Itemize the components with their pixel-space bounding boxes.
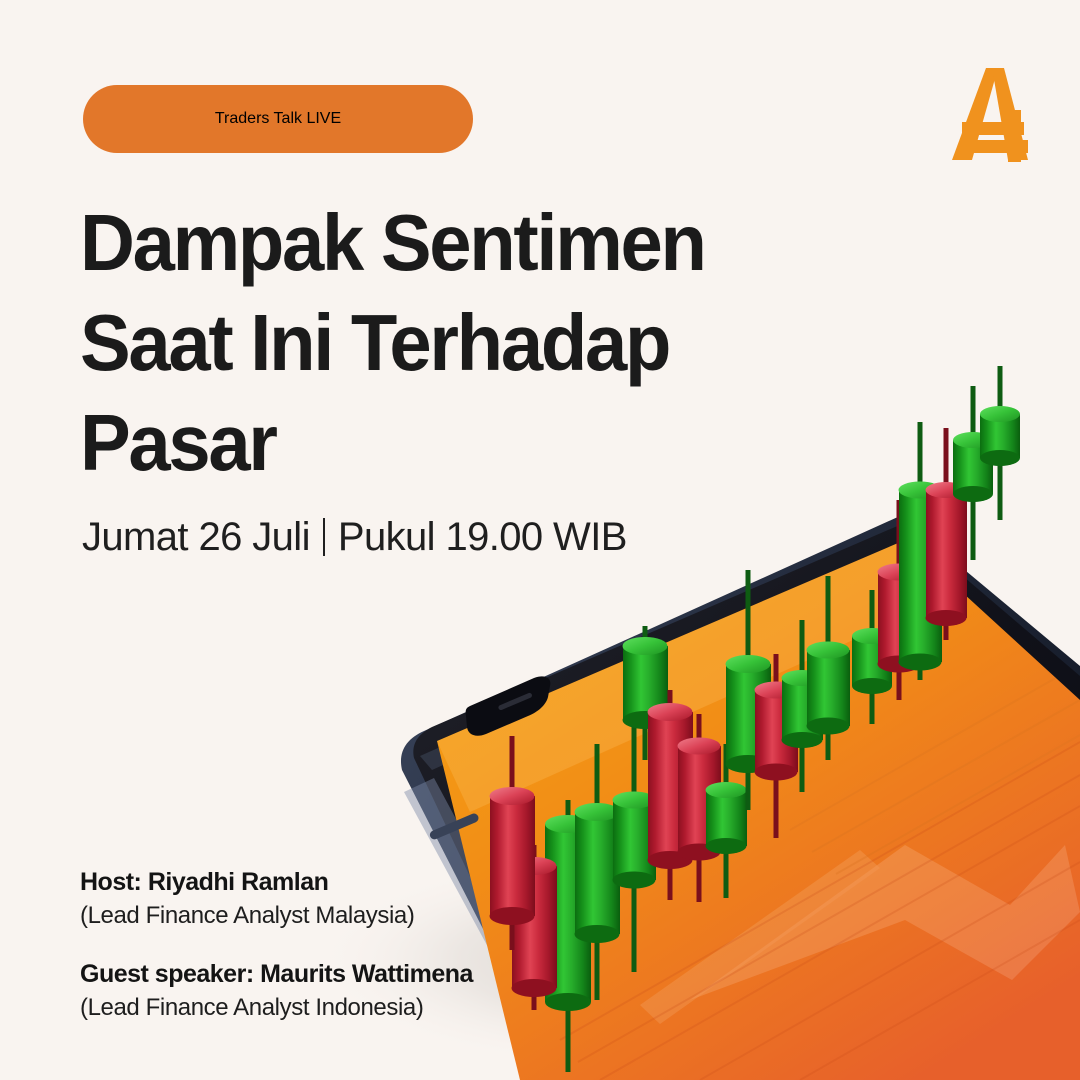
datetime-divider [323,518,325,556]
candle-bullish-13 [807,576,851,760]
candle-bullish-1 [545,800,591,1072]
phone-screen [437,540,1080,1080]
phone-rail [401,516,1080,1080]
candle-bullish-12 [782,620,824,792]
candle-bullish-16 [899,422,943,680]
credit-guest: Guest speaker: Maurits Wattimena (Lead F… [80,958,473,1024]
screen-arrow-graphic [640,845,1080,1024]
credit-host-role: (Lead Finance Analyst Malaysia) [80,900,473,932]
candle-bullish-10 [726,570,772,810]
promo-poster: Traders Talk LIVE Dampak Sentimen Saat I… [0,0,1080,1080]
candle-bearish-17 [926,428,968,640]
candle-bearish-8 [678,714,722,902]
credit-host: Host: Riyadhi Ramlan (Lead Finance Analy… [80,866,473,932]
phone-bezel [413,524,1080,1080]
candle-bullish-6 [623,626,669,760]
candle-bullish-18 [953,386,993,560]
event-time: Pukul 19.00 WIB [338,513,627,561]
phone-earpiece [498,692,533,711]
speaker-credits: Host: Riyadhi Ramlan (Lead Finance Analy… [80,866,473,1024]
credit-guest-role: (Lead Finance Analyst Indonesia) [80,992,473,1024]
candle-bullish-4 [575,744,621,1000]
brand-logo-icon [942,62,1038,166]
screen-stripes-upper [790,664,1080,874]
live-badge-label: Traders Talk LIVE [215,110,341,128]
candle-bullish-5 [613,718,657,972]
phone-side-button [429,812,480,841]
headline-line-1: Dampak Sentimen [80,193,764,293]
headline-line-3: Pasar [80,393,764,493]
phone-rail-highlight-2 [420,541,918,770]
screen-stripes [560,742,1080,1080]
credit-guest-name: Guest speaker: Maurits Wattimena [80,958,473,990]
candle-bearish-15 [878,500,922,700]
candle-bullish-9 [706,744,748,898]
candle-bullish-14 [852,590,892,724]
candle-bearish-7 [648,690,694,900]
phone-notch [466,676,551,735]
event-date: Jumat 26 Juli [82,513,310,561]
candle-bearish-2 [512,845,558,1010]
credit-host-name: Host: Riyadhi Ramlan [80,866,473,898]
headline-line-2: Saat Ini Terhadap [80,293,764,393]
candle-bullish-19 [980,366,1020,520]
smartphone [401,516,1080,1080]
candle-bearish-11 [755,654,799,838]
live-badge: Traders Talk LIVE [83,85,473,153]
candle-bearish-3 [490,736,536,950]
page-title: Dampak Sentimen Saat Ini Terhadap Pasar [80,193,800,493]
event-datetime: Jumat 26 Juli Pukul 19.00 WIB [82,513,627,561]
screen-sheen [437,540,960,812]
